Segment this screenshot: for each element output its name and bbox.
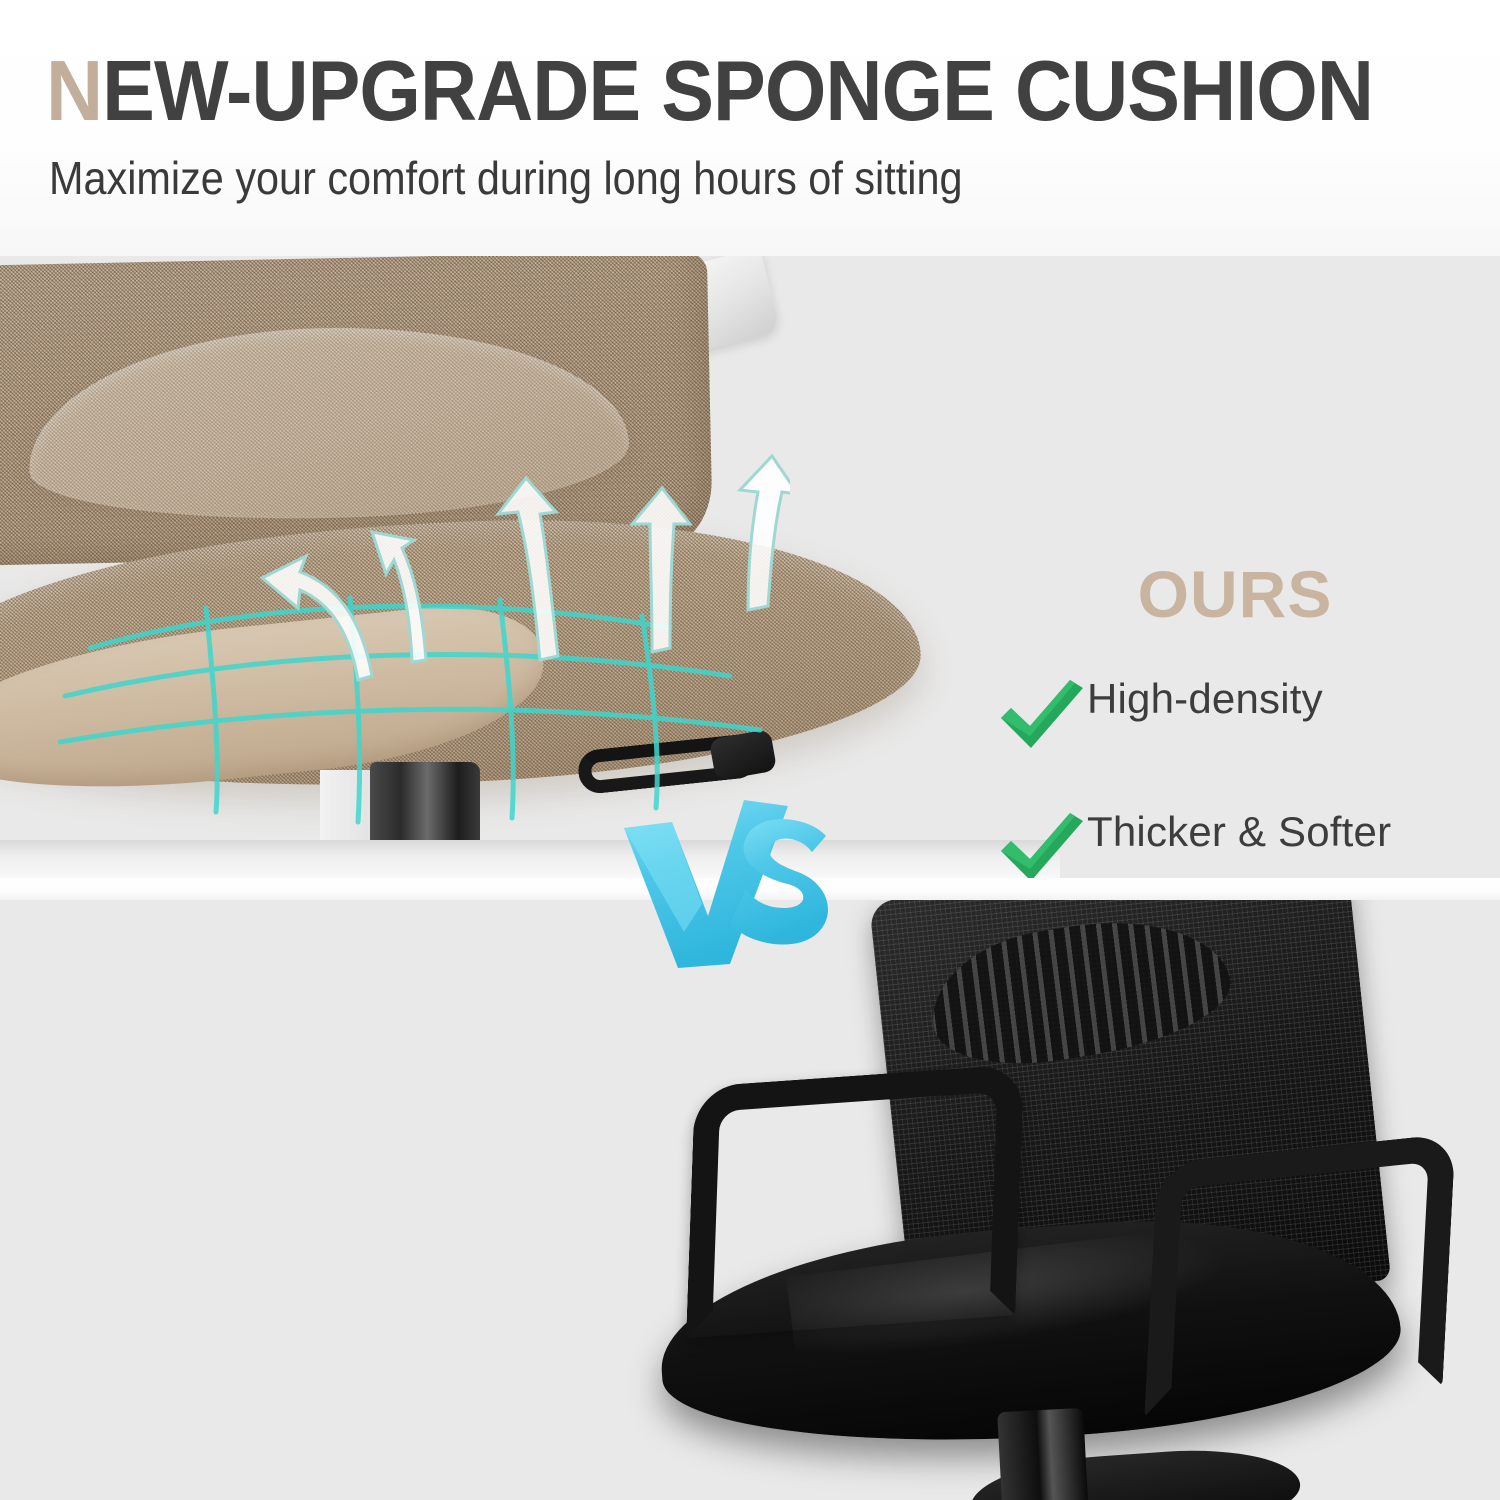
black-chair-gas-cylinder — [997, 1408, 1089, 1500]
black-chair-image — [680, 898, 1500, 1500]
page-title: NEW-UPGRADE SPONGE CUSHION — [46, 48, 1373, 136]
ours-panel: OURS High-density Thicker & S — [0, 256, 1500, 882]
ours-feature-row: High-density — [995, 672, 1475, 759]
black-chair-armrest-right — [1144, 1133, 1456, 1417]
page-subtitle: Maximize your comfort during long hours … — [49, 152, 963, 204]
ours-feature-row: Thicker & Softer — [995, 805, 1475, 882]
page-title-rest: EW-UPGRADE SPONGE CUSHION — [102, 44, 1373, 139]
vs-badge — [612, 792, 842, 972]
check-icon — [995, 674, 1087, 759]
ours-feature-label: High-density — [1087, 672, 1323, 724]
ours-heading: OURS — [995, 558, 1475, 630]
header-banner: NEW-UPGRADE SPONGE CUSHION Maximize your… — [0, 0, 1500, 256]
infographic-root: NEW-UPGRADE SPONGE CUSHION Maximize your… — [0, 0, 1500, 1500]
check-icon — [995, 807, 1087, 882]
ours-feature-label: Thicker & Softer — [1087, 805, 1391, 857]
ours-feature-list: OURS High-density Thicker & S — [995, 558, 1475, 882]
others-panel: OTHERS Easy to deform Thin & Hard — [0, 898, 1500, 1500]
page-title-accent-letter: N — [46, 44, 102, 139]
black-chair-armrest-left — [686, 1064, 1024, 1338]
beige-chair-lever-knob — [709, 729, 777, 781]
panel-shelf-highlight — [0, 840, 1060, 882]
beige-chair-image — [0, 256, 790, 882]
